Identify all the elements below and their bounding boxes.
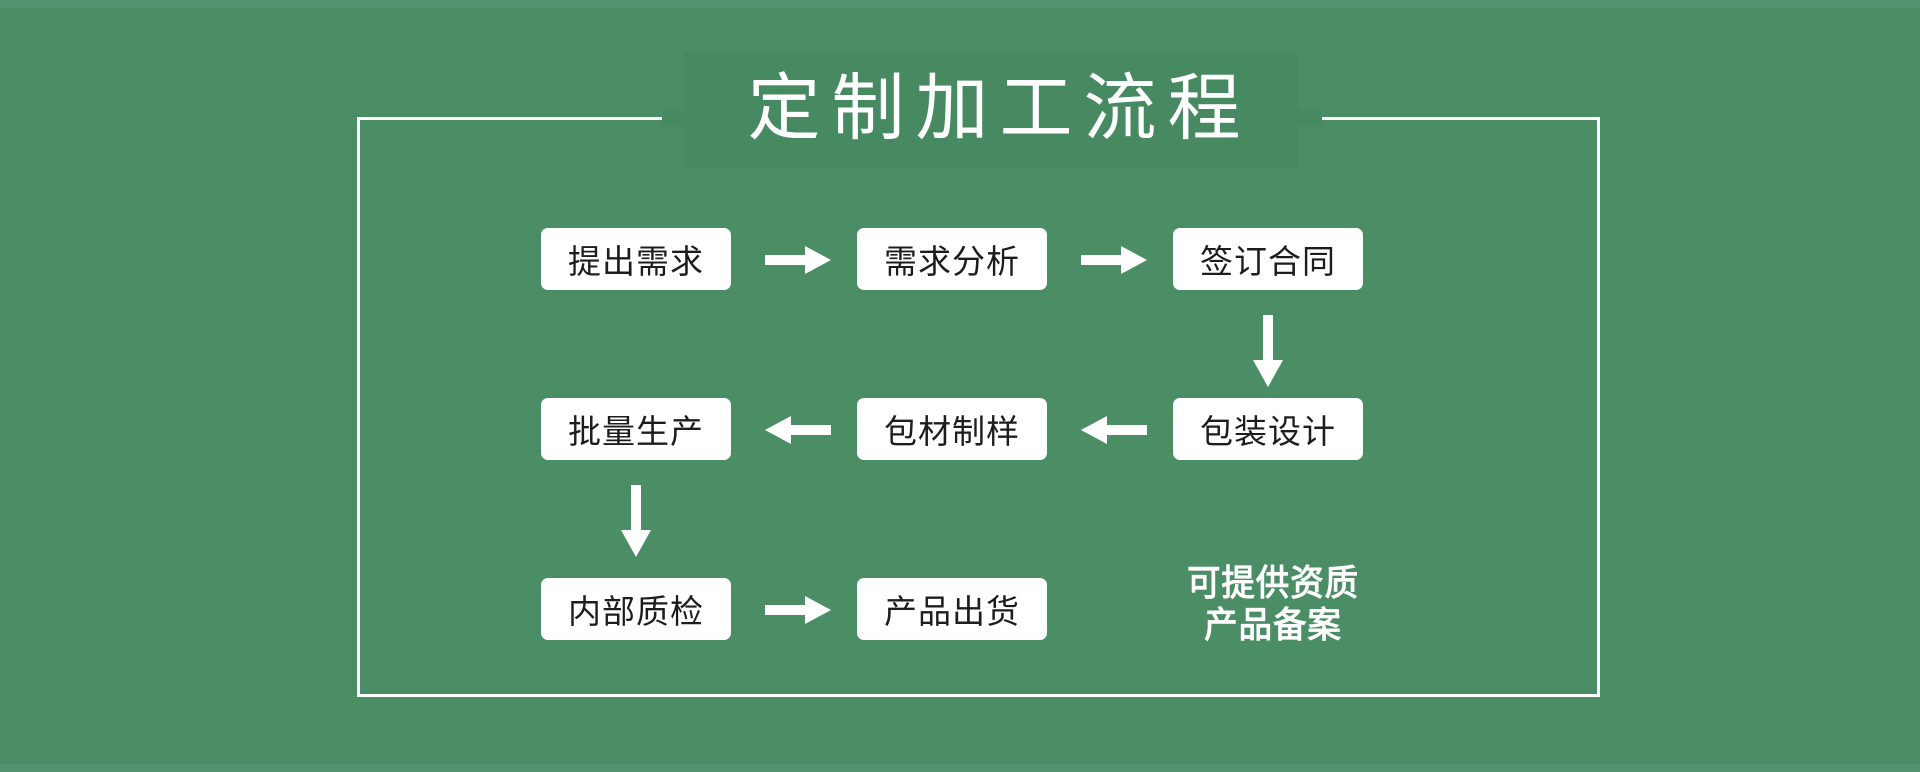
qualification-caption-line-1: 可提供资质 — [1166, 563, 1380, 605]
qualification-caption-line-2: 产品备案 — [1166, 605, 1380, 647]
arrow-left-icon — [1081, 415, 1147, 445]
bottom-edge-band — [0, 764, 1920, 772]
qualification-caption: 可提供资质 产品备案 — [1166, 563, 1380, 647]
arrow-right-icon — [765, 595, 831, 625]
arrow-down-icon — [1252, 315, 1284, 387]
flow-step-requirement-analysis[interactable]: 需求分析 — [857, 228, 1047, 290]
process-flow-poster: 定制加工流程 提出需求 需求分析 签订合同 批量生产 包材制样 包装设计 — [0, 0, 1920, 772]
flow-step-product-shipment[interactable]: 产品出货 — [857, 578, 1047, 640]
flow-step-sign-contract[interactable]: 签订合同 — [1173, 228, 1363, 290]
page-title: 定制加工流程 — [684, 48, 1304, 168]
arrow-right-icon — [1081, 245, 1147, 275]
flow-step-packaging-material-sample[interactable]: 包材制样 — [857, 398, 1047, 460]
top-edge-band — [0, 0, 1920, 8]
flow-step-packaging-design[interactable]: 包装设计 — [1173, 398, 1363, 460]
arrow-left-icon — [765, 415, 831, 445]
arrow-right-icon — [765, 245, 831, 275]
flow-step-internal-quality-check[interactable]: 内部质检 — [541, 578, 731, 640]
arrow-down-icon — [620, 485, 652, 557]
flow-step-submit-requirement[interactable]: 提出需求 — [541, 228, 731, 290]
flow-step-mass-production[interactable]: 批量生产 — [541, 398, 731, 460]
